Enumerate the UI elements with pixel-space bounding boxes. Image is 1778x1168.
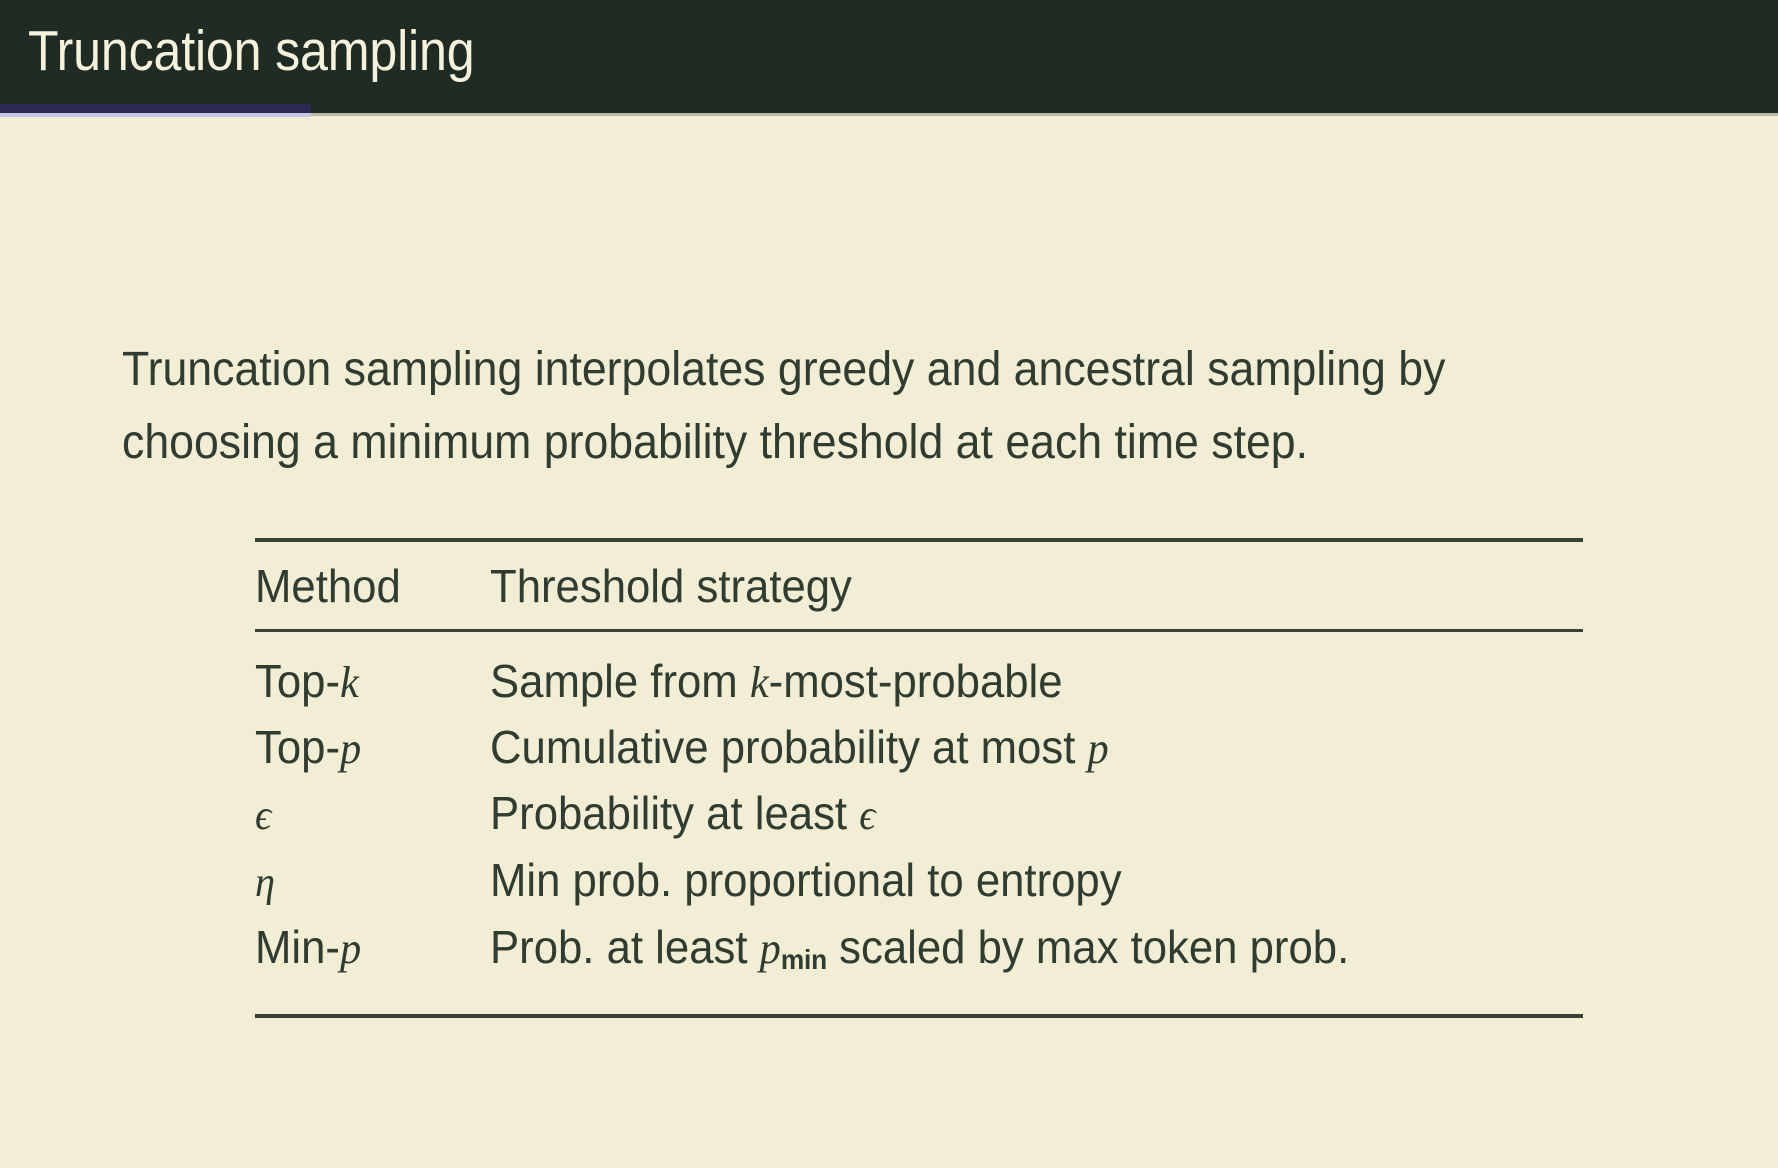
math-symbol: ϵ: [859, 792, 875, 839]
cell-method: η: [255, 848, 478, 915]
cell-method: Min-p: [255, 915, 478, 981]
slide-header: Truncation sampling: [0, 0, 1778, 104]
math-symbol: p: [340, 923, 361, 973]
table-row: Top-kSample from k-most-probable: [255, 649, 1583, 715]
math-symbol: ϵ: [255, 792, 271, 839]
column-header-strategy: Threshold strategy: [490, 555, 1528, 617]
table-body: Top-kSample from k-most-probableTop-pCum…: [255, 632, 1583, 1014]
truncation-methods-table: Method Threshold strategy Top-kSample fr…: [255, 538, 1583, 1018]
body-paragraph: Truncation sampling interpolates greedy …: [122, 333, 1469, 479]
math-symbol: k: [750, 657, 769, 707]
cell-strategy: Cumulative probability at most p: [490, 715, 1528, 781]
table-row: Min-pProb. at least pmin scaled by max t…: [255, 915, 1583, 992]
math-symbol: η: [255, 859, 275, 906]
column-header-method: Method: [255, 555, 478, 617]
cell-strategy: Prob. at least pmin scaled by max token …: [490, 915, 1528, 992]
cell-strategy: Sample from k-most-probable: [490, 649, 1528, 715]
cell-method: ϵ: [255, 781, 478, 848]
cell-strategy: Min prob. proportional to entropy: [490, 848, 1528, 913]
cell-method: Top-k: [255, 649, 478, 715]
progress-fill: [0, 104, 311, 113]
table-row: Top-pCumulative probability at most p: [255, 715, 1583, 781]
math-symbol: k: [340, 657, 359, 707]
table-header-row: Method Threshold strategy: [255, 542, 1583, 629]
math-symbol: p: [340, 723, 361, 773]
math-subscript: min: [781, 944, 827, 975]
math-symbol: p: [1087, 723, 1108, 773]
table-bottom-rule: [255, 1014, 1583, 1018]
table-row: ϵProbability at least ϵ: [255, 781, 1583, 848]
progress-track: [0, 104, 1778, 113]
cell-method: Top-p: [255, 715, 478, 781]
cell-strategy: Probability at least ϵ: [490, 781, 1528, 848]
table-row: ηMin prob. proportional to entropy: [255, 848, 1583, 915]
slide-canvas: Truncation sampling Truncation sampling …: [0, 0, 1778, 1168]
math-symbol: pmin: [760, 923, 827, 973]
progress-underline: [0, 113, 311, 117]
page-title: Truncation sampling: [28, 8, 474, 94]
